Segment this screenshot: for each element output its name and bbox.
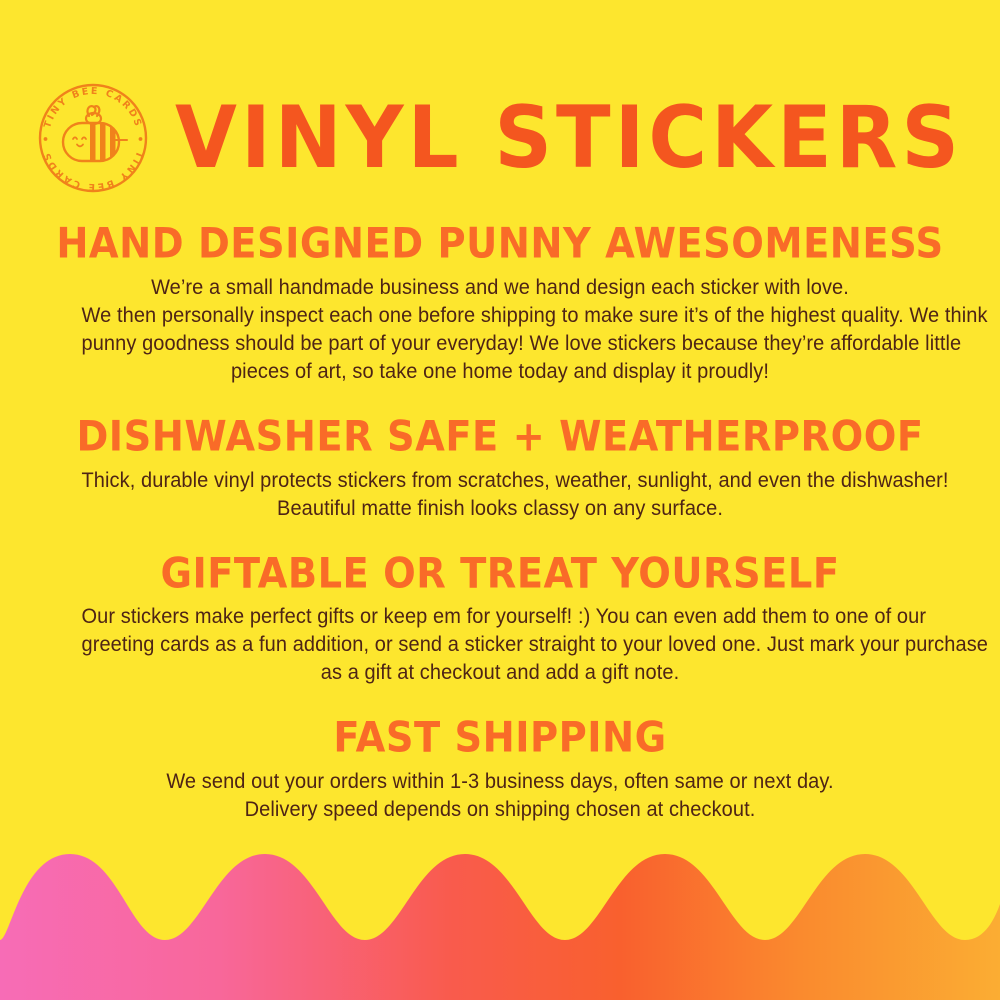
logo-dot-right [139,137,143,141]
header: TINY BEE CARDS TINY BEE CARDS [0,78,1000,198]
body-line: We then personally inspect each one befo… [82,301,919,329]
bee-illustration [63,106,127,161]
section-heading: DISHWASHER SAFE + WEATHERPROOF [20,414,980,461]
body-line: Our stickers make perfect gifts or keep … [82,602,919,630]
section-body: Thick, durable vinyl protects stickers f… [82,466,919,522]
section-heading: FAST SHIPPING [20,715,980,762]
sections-container: HAND DESIGNED PUNNY AWESOMENESS We’re a … [0,222,1000,823]
section-body: We’re a small handmade business and we h… [82,273,919,385]
body-line: Beautiful matte finish looks classy on a… [82,494,919,522]
section-hand-designed: HAND DESIGNED PUNNY AWESOMENESS We’re a … [0,222,1000,385]
body-line: Thick, durable vinyl protects stickers f… [82,466,919,494]
body-line: greeting cards as a fun addition, or sen… [82,630,919,658]
section-body: We send out your orders within 1-3 busin… [82,767,919,823]
body-line: punny goodness should be part of your ev… [82,329,919,357]
bee-eye-left [73,137,77,139]
body-line: We send out your orders within 1-3 busin… [82,767,919,795]
section-fast-shipping: FAST SHIPPING We send out your orders wi… [0,716,1000,823]
bee-stripes [90,123,116,161]
bottom-wave-decoration [0,840,1000,1000]
tiny-bee-cards-logo: TINY BEE CARDS TINY BEE CARDS [37,82,149,194]
body-line: We’re a small handmade business and we h… [82,273,919,301]
body-line: Delivery speed depends on shipping chose… [82,795,919,823]
body-line: pieces of art, so take one home today an… [82,357,919,385]
bee-smile [77,145,83,147]
body-line: as a gift at checkout and add a gift not… [82,658,919,686]
section-heading: HAND DESIGNED PUNNY AWESOMENESS [20,221,980,268]
section-dishwasher-safe: DISHWASHER SAFE + WEATHERPROOF Thick, du… [0,415,1000,522]
page-title: VINYL STICKERS [175,95,963,181]
section-body: Our stickers make perfect gifts or keep … [82,602,919,686]
poster-canvas: TINY BEE CARDS TINY BEE CARDS [0,0,1000,1000]
section-heading: GIFTABLE OR TREAT YOURSELF [20,550,980,597]
section-giftable: GIFTABLE OR TREAT YOURSELF Our stickers … [0,552,1000,687]
bee-eye-right [82,137,86,139]
logo-dot-left [44,137,48,141]
